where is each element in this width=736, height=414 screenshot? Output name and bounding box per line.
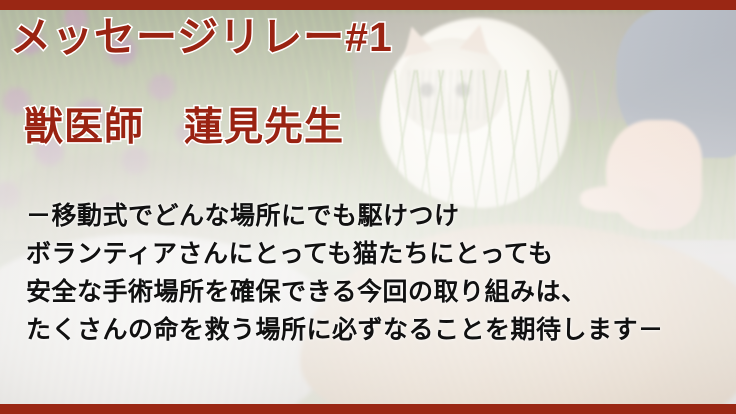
page-title: メッセージリレー#1 xyxy=(10,12,393,62)
top-accent-bar xyxy=(0,0,736,10)
message-line: －移動式でどんな場所にでも駆けつけ xyxy=(26,198,716,236)
message-line: 安全な手術場所を確保できる今回の取り組みは、 xyxy=(26,274,716,312)
subtitle-speaker-name: 獣医師 蓮見先生 xyxy=(24,104,344,153)
text-layer: メッセージリレー#1 獣医師 蓮見先生 －移動式でどんな場所にでも駆けつけ ボラ… xyxy=(0,0,736,414)
bottom-accent-bar xyxy=(0,404,736,414)
message-line: ボランティアさんにとっても猫たちにとっても xyxy=(26,236,716,274)
slide-canvas: メッセージリレー#1 獣医師 蓮見先生 －移動式でどんな場所にでも駆けつけ ボラ… xyxy=(0,0,736,414)
message-body: －移動式でどんな場所にでも駆けつけ ボランティアさんにとっても猫たちにとっても … xyxy=(26,198,716,350)
message-line: たくさんの命を救う場所に必ずなることを期待します－ xyxy=(26,312,716,350)
